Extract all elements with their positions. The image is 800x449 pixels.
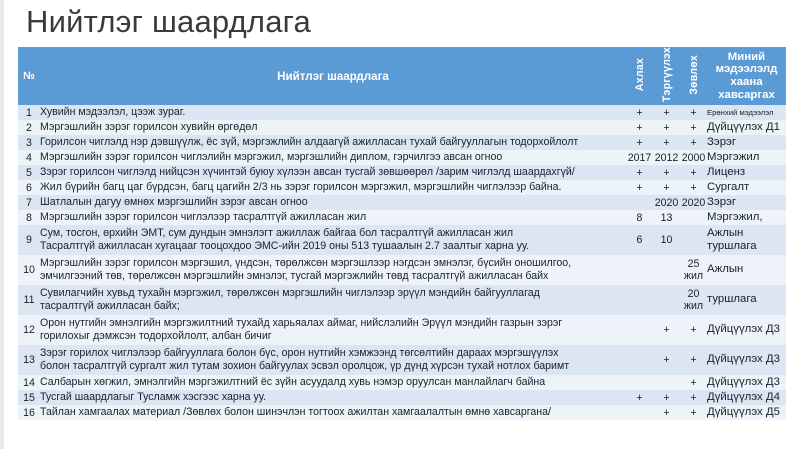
requirement-text-line: тасралтгүй ажилласан байх; (40, 300, 626, 313)
cell-where-to-attach-line: Мэргэжил (707, 151, 786, 165)
cell-where-to-attach-line: Дүйцүүлэх Д3 (707, 353, 786, 367)
requirement-text: Сум, тосгон, өрхийн ЭМТ, сум дундын эмнэ… (40, 225, 626, 255)
column-header-ahlah: Ахлах (626, 47, 653, 105)
row-number: 3 (18, 135, 40, 150)
requirement-text-line: горилохыг дэмжсэн тодорхойлолт, албан би… (40, 330, 626, 343)
cell-zovloh-line: жил (680, 270, 707, 282)
cell-ahlah: 6 (626, 225, 653, 255)
row-number: 9 (18, 225, 40, 255)
requirement-text-line: Тусгай шаардлагыг Тусламж хэсгээс харна … (40, 391, 626, 404)
cell-terguuleh: + (653, 135, 680, 150)
cell-zovloh: 25жил (680, 255, 707, 285)
requirement-text: Тусгай шаардлагыг Тусламж хэсгээс харна … (40, 390, 626, 405)
cell-where-to-attach: Дүйцүүлэх Д1 (707, 120, 786, 135)
table-row: 4Мэргэшлийн зэрэг горилсон чиглэлийн мэр… (18, 150, 786, 165)
requirement-text: Жил бүрийн багц цаг бүрдсэн, багц цагийн… (40, 180, 626, 195)
requirement-text-line: Шатлалын дагуу өмнөх мэргэшлийн зэрэг ав… (40, 196, 626, 209)
requirements-table: № Нийтлэг шаардлага Ахлах Тэргүүлэх Зөвл… (18, 47, 786, 420)
cell-ahlah: + (626, 180, 653, 195)
table-row: 16Тайлан хамгаалах материал /Зөвлөх боло… (18, 405, 786, 420)
column-header-zovloh-label: Зөвлөх (688, 55, 700, 95)
row-number: 11 (18, 285, 40, 315)
cell-where-to-attach: Лиценз (707, 165, 786, 180)
cell-ahlah: 2017 (626, 150, 653, 165)
row-number: 14 (18, 375, 40, 390)
table-body: 1Хувийн мэдээлэл, цээж зураг.+++Ерөнхий … (18, 105, 786, 420)
requirement-text: Хувийн мэдээлэл, цээж зураг. (40, 105, 626, 120)
table-row: 3Горилсон чиглэлд нэр дэвшүүлж, ёс зүй, … (18, 135, 786, 150)
column-header-requirement: Нийтлэг шаардлага (40, 47, 626, 105)
requirement-text-line: Зэрэг горилсон чиглэлд нийцсэн хүчинтэй … (40, 166, 626, 179)
cell-where-to-attach-line: туршлага (707, 240, 786, 254)
requirement-text-line: Орон нутгийн эмнэлгийн мэргэжилтний туха… (40, 317, 626, 330)
cell-ahlah (626, 315, 653, 345)
table-header-row: № Нийтлэг шаардлага Ахлах Тэргүүлэх Зөвл… (18, 47, 786, 105)
table-row: 13Зэрэг горилох чиглэлээр байгууллага бо… (18, 345, 786, 375)
requirement-text: Зэрэг горилох чиглэлээр байгууллага боло… (40, 345, 626, 375)
requirement-text-line: Зэрэг горилох чиглэлээр байгууллага боло… (40, 347, 626, 360)
row-number: 1 (18, 105, 40, 120)
cell-where-to-attach-line: Ажлын (707, 263, 786, 277)
cell-where-to-attach-line: Ерөнхий мэдээлэл (707, 106, 786, 120)
requirement-text: Орон нутгийн эмнэлгийн мэргэжилтний туха… (40, 315, 626, 345)
cell-where-to-attach-line: Мэргэжил, (707, 211, 786, 225)
cell-where-to-attach: Дүйцүүлэх Д3 (707, 315, 786, 345)
cell-terguuleh: + (653, 315, 680, 345)
row-number: 13 (18, 345, 40, 375)
cell-ahlah: + (626, 390, 653, 405)
requirement-text: Горилсон чиглэлд нэр дэвшүүлж, ёс зүй, м… (40, 135, 626, 150)
cell-terguuleh (653, 375, 680, 390)
cell-zovloh (680, 225, 707, 255)
table-row: 5Зэрэг горилсон чиглэлд нийцсэн хүчинтэй… (18, 165, 786, 180)
cell-where-to-attach-line: туршлага (707, 293, 786, 307)
cell-ahlah (626, 195, 653, 210)
cell-where-to-attach-line: Зэрэг (707, 136, 786, 150)
cell-ahlah (626, 285, 653, 315)
table-row: 6Жил бүрийн багц цаг бүрдсэн, багц цагий… (18, 180, 786, 195)
column-header-number: № (18, 47, 40, 105)
cell-zovloh: + (680, 315, 707, 345)
column-header-terguuleh: Тэргүүлэх (653, 47, 680, 105)
requirements-table-container: № Нийтлэг шаардлага Ахлах Тэргүүлэх Зөвл… (18, 47, 786, 420)
row-number: 5 (18, 165, 40, 180)
slide-canvas: Нийтлэг шаардлага № Нийтлэг шаардлага Ах… (4, 0, 800, 449)
requirement-text: Мэргэшлийн зэрэг горилсон чиглэлээр таср… (40, 210, 626, 225)
cell-terguuleh: + (653, 105, 680, 120)
cell-where-to-attach: Ажлын (707, 255, 786, 285)
cell-zovloh: + (680, 105, 707, 120)
cell-terguuleh: + (653, 345, 680, 375)
table-row: 14Салбарын хөгжил, эмнэлгийн мэргэжилтни… (18, 375, 786, 390)
table-row: 9Сум, тосгон, өрхийн ЭМТ, сум дундын эмн… (18, 225, 786, 255)
requirement-text: Мэргэшлийн зэрэг горилсон хувийн өргөдөл (40, 120, 626, 135)
cell-ahlah (626, 375, 653, 390)
requirement-text-line: Мэргэшлийн зэрэг горилсон мэргэшил, үндс… (40, 257, 626, 270)
cell-where-to-attach-line: Зэрэг (707, 196, 786, 210)
cell-terguuleh: + (653, 165, 680, 180)
row-number: 16 (18, 405, 40, 420)
cell-ahlah: + (626, 105, 653, 120)
table-row: 2Мэргэшлийн зэрэг горилсон хувийн өргөдө… (18, 120, 786, 135)
cell-where-to-attach: Ерөнхий мэдээлэл (707, 105, 786, 120)
cell-where-to-attach: Зэрэг (707, 135, 786, 150)
cell-where-to-attach: Дүйцүүлэх Д4 (707, 390, 786, 405)
cell-ahlah (626, 405, 653, 420)
slide-bottom-edge (4, 444, 800, 449)
cell-ahlah: 8 (626, 210, 653, 225)
requirement-text: Шатлалын дагуу өмнөх мэргэшлийн зэрэг ав… (40, 195, 626, 210)
table-row: 1Хувийн мэдээлэл, цээж зураг.+++Ерөнхий … (18, 105, 786, 120)
cell-where-to-attach-line: Дүйцүүлэх Д3 (707, 323, 786, 337)
requirement-text-line: Хувийн мэдээлэл, цээж зураг. (40, 106, 626, 119)
requirement-text-line: эмчилгээний төв, төрөлжсөн мэргэшлийн эм… (40, 270, 626, 283)
table-row: 12Орон нутгийн эмнэлгийн мэргэжилтний ту… (18, 315, 786, 345)
row-number: 6 (18, 180, 40, 195)
column-header-where-to-attach: Миний мэдээлэлд хаана хавсаргах (707, 47, 786, 105)
table-row: 7Шатлалын дагуу өмнөх мэргэшлийн зэрэг а… (18, 195, 786, 210)
table-row: 8Мэргэшлийн зэрэг горилсон чиглэлээр тас… (18, 210, 786, 225)
cell-zovloh: + (680, 180, 707, 195)
requirement-text-line: Тасралтгүй ажилласан хугацааг тооцохдоо … (40, 240, 626, 253)
cell-zovloh: + (680, 405, 707, 420)
column-header-terguuleh-label: Тэргүүлэх (661, 47, 673, 102)
requirement-text-line: Жил бүрийн багц цаг бүрдсэн, багц цагийн… (40, 181, 626, 194)
cell-zovloh: 2020 (680, 195, 707, 210)
cell-where-to-attach: Мэргэжил, (707, 210, 786, 225)
page-title: Нийтлэг шаардлага (26, 4, 311, 40)
row-number: 7 (18, 195, 40, 210)
cell-zovloh (680, 210, 707, 225)
cell-terguuleh: 2012 (653, 150, 680, 165)
cell-terguuleh: + (653, 390, 680, 405)
cell-zovloh: + (680, 390, 707, 405)
cell-where-to-attach-line: Дүйцүүлэх Д4 (707, 391, 786, 405)
cell-zovloh: + (680, 375, 707, 390)
row-number: 8 (18, 210, 40, 225)
row-number: 4 (18, 150, 40, 165)
requirement-text: Сувилагчийн хувьд тухайн мэргэжил, төрөл… (40, 285, 626, 315)
row-number: 12 (18, 315, 40, 345)
cell-where-to-attach: Мэргэжил (707, 150, 786, 165)
cell-where-to-attach-line: Дүйцүүлэх Д3 (707, 376, 786, 390)
cell-terguuleh (653, 255, 680, 285)
table-row: 15Тусгай шаардлагыг Тусламж хэсгээс харн… (18, 390, 786, 405)
cell-ahlah: + (626, 120, 653, 135)
cell-zovloh: 20жил (680, 285, 707, 315)
row-number: 10 (18, 255, 40, 285)
cell-where-to-attach-line: Сургалт (707, 181, 786, 195)
requirement-text: Тайлан хамгаалах материал /Зөвлөх болон … (40, 405, 626, 420)
cell-where-to-attach-line: Лиценз (707, 166, 786, 180)
requirement-text-line: Мэргэшлийн зэрэг горилсон хувийн өргөдөл (40, 121, 626, 134)
cell-where-to-attach: туршлага (707, 285, 786, 315)
requirement-text-line: болон тасралтгүй сургалт жил тутам зохио… (40, 360, 626, 373)
cell-terguuleh (653, 285, 680, 315)
cell-terguuleh: 2020 (653, 195, 680, 210)
cell-ahlah: + (626, 165, 653, 180)
column-header-ahlah-label: Ахлах (634, 58, 646, 91)
cell-where-to-attach-line: Дүйцүүлэх Д1 (707, 121, 786, 135)
column-header-zovloh: Зөвлөх (680, 47, 707, 105)
cell-ahlah: + (626, 135, 653, 150)
requirement-text-line: Сум, тосгон, өрхийн ЭМТ, сум дундын эмнэ… (40, 227, 626, 240)
cell-where-to-attach-line: Ажлын (707, 227, 786, 241)
cell-terguuleh: 10 (653, 225, 680, 255)
cell-ahlah (626, 345, 653, 375)
row-number: 2 (18, 120, 40, 135)
requirement-text-line: Мэргэшлийн зэрэг горилсон чиглэлийн мэрг… (40, 151, 626, 164)
cell-where-to-attach-line: Дүйцүүлэх Д5 (707, 406, 786, 420)
cell-terguuleh: + (653, 120, 680, 135)
cell-terguuleh: + (653, 405, 680, 420)
requirement-text-line: Мэргэшлийн зэрэг горилсон чиглэлээр таср… (40, 211, 626, 224)
cell-zovloh: 2000 (680, 150, 707, 165)
requirement-text-line: Салбарын хөгжил, эмнэлгийн мэргэжилтний … (40, 376, 626, 389)
cell-zovloh: + (680, 135, 707, 150)
cell-where-to-attach: Ажлынтуршлага (707, 225, 786, 255)
row-number: 15 (18, 390, 40, 405)
cell-where-to-attach: Дүйцүүлэх Д5 (707, 405, 786, 420)
requirement-text: Мэргэшлийн зэрэг горилсон мэргэшил, үндс… (40, 255, 626, 285)
cell-zovloh-line: 20 (680, 288, 707, 300)
requirement-text: Салбарын хөгжил, эмнэлгийн мэргэжилтний … (40, 375, 626, 390)
cell-terguuleh: 13 (653, 210, 680, 225)
table-header: № Нийтлэг шаардлага Ахлах Тэргүүлэх Зөвл… (18, 47, 786, 105)
requirement-text-line: Тайлан хамгаалах материал /Зөвлөх болон … (40, 406, 626, 419)
cell-where-to-attach: Сургалт (707, 180, 786, 195)
table-row: 10Мэргэшлийн зэрэг горилсон мэргэшил, үн… (18, 255, 786, 285)
cell-zovloh: + (680, 120, 707, 135)
cell-zovloh-line: 25 (680, 258, 707, 270)
requirement-text-line: Горилсон чиглэлд нэр дэвшүүлж, ёс зүй, м… (40, 136, 626, 149)
cell-terguuleh: + (653, 180, 680, 195)
requirement-text-line: Сувилагчийн хувьд тухайн мэргэжил, төрөл… (40, 287, 626, 300)
cell-zovloh: + (680, 345, 707, 375)
requirement-text: Мэргэшлийн зэрэг горилсон чиглэлийн мэрг… (40, 150, 626, 165)
cell-zovloh: + (680, 165, 707, 180)
cell-where-to-attach: Дүйцүүлэх Д3 (707, 345, 786, 375)
requirement-text: Зэрэг горилсон чиглэлд нийцсэн хүчинтэй … (40, 165, 626, 180)
table-row: 11Сувилагчийн хувьд тухайн мэргэжил, төр… (18, 285, 786, 315)
cell-where-to-attach: Дүйцүүлэх Д3 (707, 375, 786, 390)
cell-zovloh-line: жил (680, 300, 707, 312)
cell-ahlah (626, 255, 653, 285)
cell-where-to-attach: Зэрэг (707, 195, 786, 210)
